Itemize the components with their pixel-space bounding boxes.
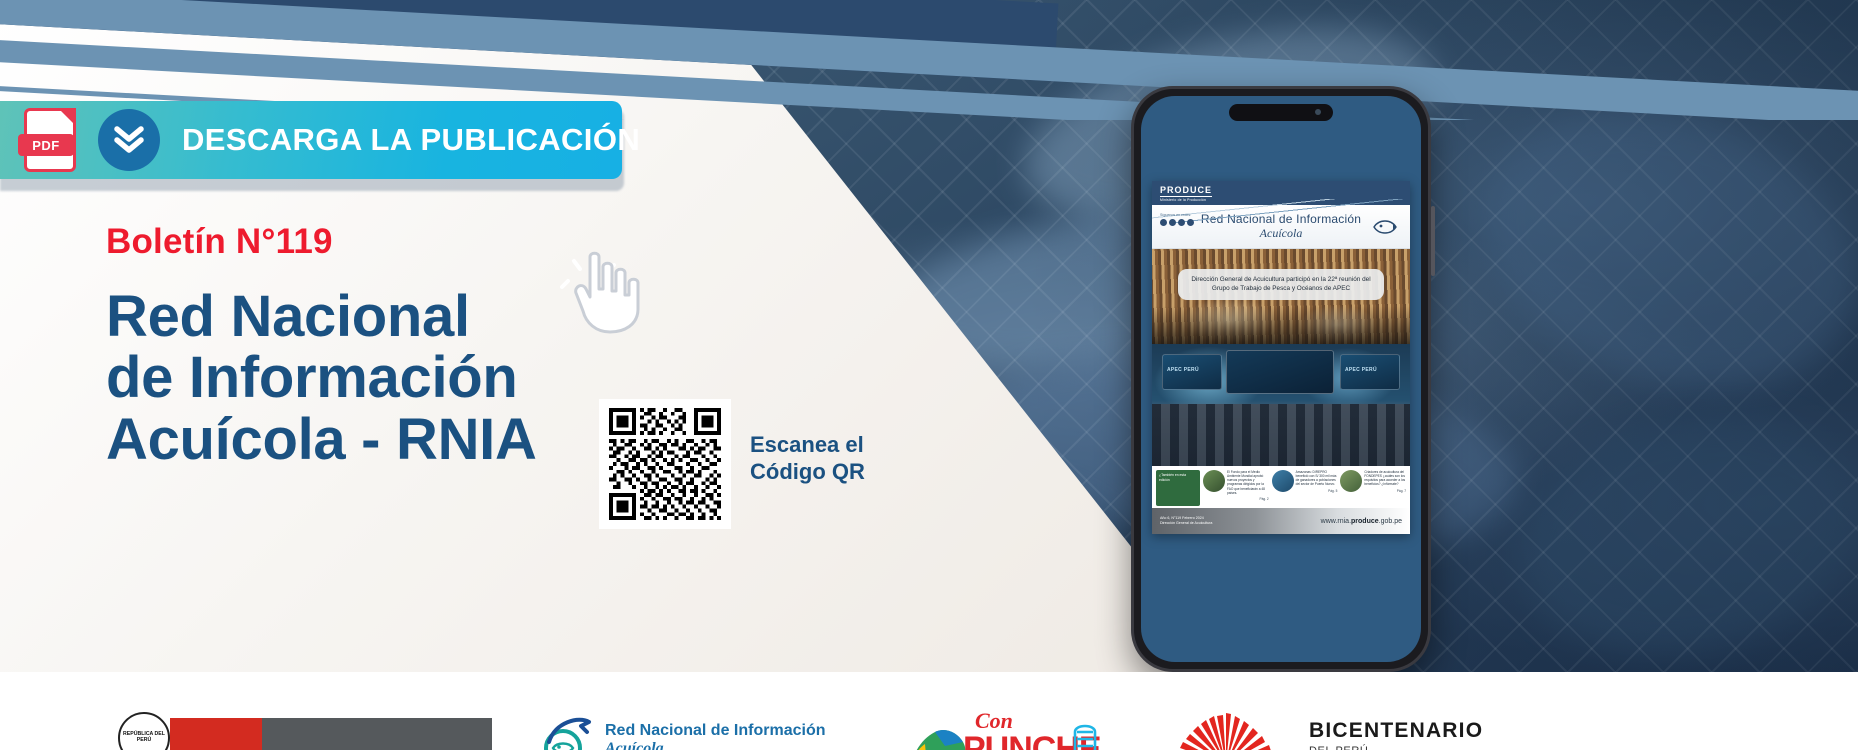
pointer-hand-icon [566, 249, 644, 335]
gov-red-block [170, 718, 262, 750]
seal-text: REPÚBLICA DEL PERÚ [120, 732, 168, 743]
cover-footer: Año 6, N°119 Febrero 2024 Dirección Gene… [1152, 508, 1410, 534]
promo-banner-page: PDF DESCARGA LA PUBLICACIÓN [0, 0, 1858, 750]
apec-label-left: APEC PERÚ [1167, 367, 1199, 373]
green-note-box: ¿También en esta edición [1156, 470, 1200, 506]
url-brand: produce [1351, 518, 1379, 525]
thumb-text-3: Criadores de acuicultura del FONDEPES ¿c… [1364, 470, 1406, 493]
phone-notch [1229, 104, 1333, 121]
thumb-page-3: Pág. 7 [1364, 489, 1406, 493]
bicentenario-rays-icon [1165, 710, 1287, 750]
rnia-logo-text: Red Nacional de Información Acuícola [605, 722, 825, 750]
title-line-2: de Información [106, 347, 537, 408]
apec-audience [1152, 404, 1410, 466]
social-label: Síguenos en redes: [1160, 213, 1194, 217]
thumb-text-1-body: El Fondo para el Medio Ambiente Mundial … [1227, 470, 1265, 495]
cta-label: DESCARGA LA PUBLICACIÓN [182, 122, 640, 158]
thumb-text-2: Amazonas: DIREPRO benefició con S/ 300 m… [1296, 470, 1338, 493]
phone-side-button[interactable] [1431, 206, 1435, 276]
twitter-icon[interactable] [1169, 219, 1176, 226]
qr-caption: Escanea el Código QR [750, 431, 865, 486]
rnia-fish-logo-icon [535, 712, 597, 750]
cover-thumb-item: Amazonas: DIREPRO benefició con S/ 300 m… [1272, 470, 1338, 493]
thumb-image-2 [1272, 470, 1294, 492]
footer-logo-bar: REPÚBLICA DEL PERÚ Red Nacional de Infor… [0, 672, 1858, 750]
cover-masthead: Síguenos en redes: Red Nacional de Infor… [1152, 205, 1410, 249]
fist-hand-icon [1065, 714, 1105, 750]
con-punche-peru-logo: Con PUNCHE [905, 708, 1090, 750]
apec-screen-center [1226, 350, 1334, 394]
apec-screen-left: APEC PERÚ [1162, 354, 1222, 390]
smartphone-mockup: PRODUCE Ministerio de la Producción Sígu… [1131, 86, 1431, 672]
thumb-image-3 [1340, 470, 1362, 492]
download-cta-wrapper: PDF DESCARGA LA PUBLICACIÓN [0, 101, 624, 183]
masthead-line-2: Acuícola [1201, 227, 1361, 240]
url-prefix: www.rnia. [1321, 518, 1351, 525]
bicentenario-logo: BICENTENARIO DEL PERÚ [1165, 710, 1483, 750]
qr-caption-line-2: Código QR [750, 458, 865, 485]
rnia-logo: Red Nacional de Información Acuícola [535, 712, 825, 750]
front-camera-icon [1315, 109, 1321, 115]
title-line-3: Acuícola - RNIA [106, 409, 537, 470]
gov-gray-block [262, 718, 492, 750]
produce-wordmark: PRODUCE [1160, 185, 1212, 197]
bicentenario-word: BICENTENARIO [1309, 719, 1483, 742]
thumb-image-1 [1203, 470, 1225, 492]
pdf-file-icon: PDF [22, 108, 78, 172]
gobierno-del-peru-logo: REPÚBLICA DEL PERÚ [118, 712, 492, 750]
cover-photo-apec-meeting: APEC PERÚ APEC PERÚ [1152, 344, 1410, 466]
fish-circle-icon [1372, 215, 1398, 239]
logo-row: REPÚBLICA DEL PERÚ Red Nacional de Infor… [0, 672, 1858, 750]
peru-seal-icon: REPÚBLICA DEL PERÚ [118, 712, 170, 750]
phone-screen[interactable]: PRODUCE Ministerio de la Producción Sígu… [1141, 96, 1421, 662]
social-links: Síguenos en redes: [1160, 213, 1194, 226]
rnia-line-2: Acuícola [605, 740, 825, 750]
issue-line-2: Dirección General de Acuicultura [1160, 521, 1212, 526]
thumb-text-3-body: Criadores de acuicultura del FONDEPES ¿c… [1364, 470, 1405, 486]
download-publication-button[interactable]: PDF DESCARGA LA PUBLICACIÓN [0, 101, 622, 179]
title-line-1: Red Nacional [106, 286, 537, 347]
facebook-icon[interactable] [1160, 219, 1167, 226]
qr-caption-line-1: Escanea el [750, 431, 865, 458]
pdf-badge-label: PDF [18, 134, 74, 156]
instagram-icon[interactable] [1178, 219, 1185, 226]
qr-code[interactable] [609, 408, 721, 520]
apec-label-right: APEC PERÚ [1345, 367, 1377, 373]
thumb-text-1: El Fondo para el Medio Ambiente Mundial … [1227, 470, 1269, 501]
thumb-page-1: Pág. 2 [1227, 497, 1269, 501]
cover-headline-callout: Dirección General de Acuicultura partici… [1178, 269, 1384, 300]
cover-thumbnails: ¿También en esta edición El Fondo para e… [1152, 466, 1410, 508]
url-suffix: .gob.pe [1379, 518, 1402, 525]
cover-website-url: www.rnia.produce.gob.pe [1321, 518, 1402, 525]
social-icons[interactable] [1160, 219, 1194, 226]
youtube-icon[interactable] [1187, 219, 1194, 226]
double-chevron-down-icon[interactable] [98, 109, 160, 171]
cover-photo-hall: Dirección General de Acuicultura partici… [1152, 249, 1410, 344]
cover-issue-info: Año 6, N°119 Febrero 2024 Dirección Gene… [1160, 516, 1212, 527]
bulletin-number: Boletín N°119 [106, 222, 333, 262]
apec-screen-right: APEC PERÚ [1340, 354, 1400, 390]
cover-thumb-item: Criadores de acuicultura del FONDEPES ¿c… [1340, 470, 1406, 493]
thumb-text-2-body: Amazonas: DIREPRO benefició con S/ 300 m… [1296, 470, 1337, 486]
magazine-cover: PRODUCE Ministerio de la Producción Sígu… [1152, 181, 1410, 534]
bicentenario-sub: DEL PERÚ [1309, 745, 1483, 750]
qr-code-card[interactable] [599, 399, 731, 529]
cover-thumb-item: El Fondo para el Medio Ambiente Mundial … [1203, 470, 1269, 501]
rnia-line-1: Red Nacional de Información [605, 722, 825, 739]
hero-section: PDF DESCARGA LA PUBLICACIÓN [0, 0, 1858, 672]
bicentenario-text: BICENTENARIO DEL PERÚ [1309, 719, 1483, 750]
page-title: Red Nacional de Información Acuícola - R… [106, 286, 537, 470]
thumb-page-2: Pág. 5 [1296, 489, 1338, 493]
